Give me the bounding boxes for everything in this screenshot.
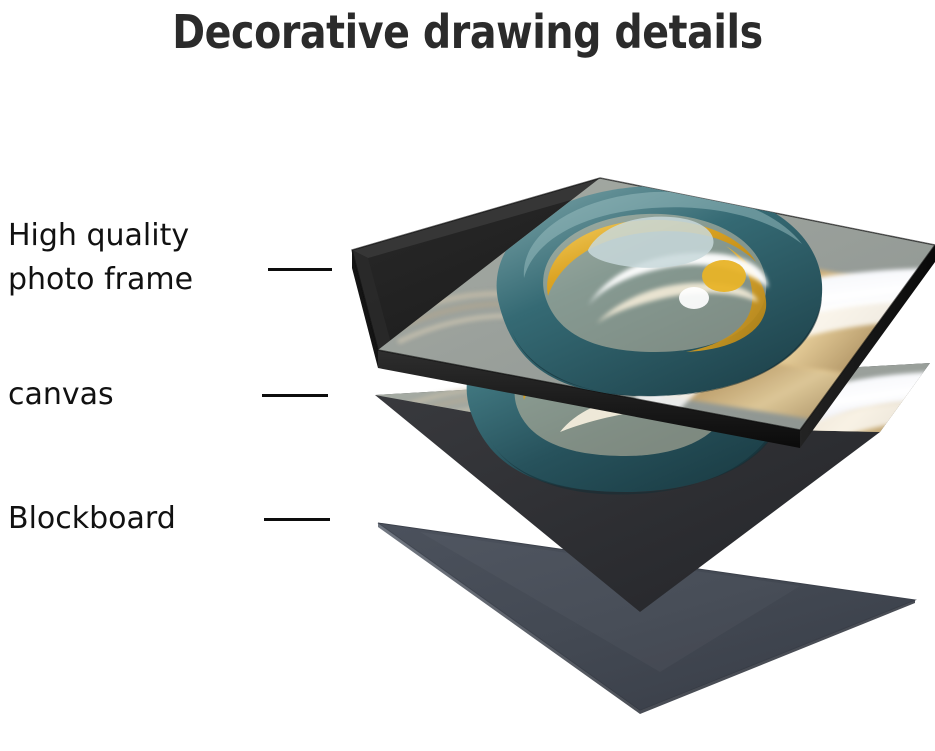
canvas-layer xyxy=(375,293,935,612)
leader-line-canvas xyxy=(262,394,328,397)
blockboard-layer xyxy=(378,523,915,714)
leader-line-high-quality-photo-frame xyxy=(268,268,332,271)
frame-torus xyxy=(497,186,823,397)
leader-line-blockboard xyxy=(264,518,330,521)
frame-artwork xyxy=(352,178,935,430)
exploded-view-illustration xyxy=(0,0,935,751)
callout-label-canvas: canvas xyxy=(8,373,114,417)
canvas-torus xyxy=(467,293,785,494)
page-title: Decorative drawing details xyxy=(65,4,869,60)
illustration-svg xyxy=(0,0,935,751)
canvas-artwork xyxy=(375,325,935,612)
callout-label-high-quality-photo-frame: High quality photo frame xyxy=(8,214,193,302)
infographic-page: Decorative drawing details xyxy=(0,0,935,751)
photo-frame-layer xyxy=(352,178,935,448)
callout-label-blockboard: Blockboard xyxy=(8,497,176,541)
